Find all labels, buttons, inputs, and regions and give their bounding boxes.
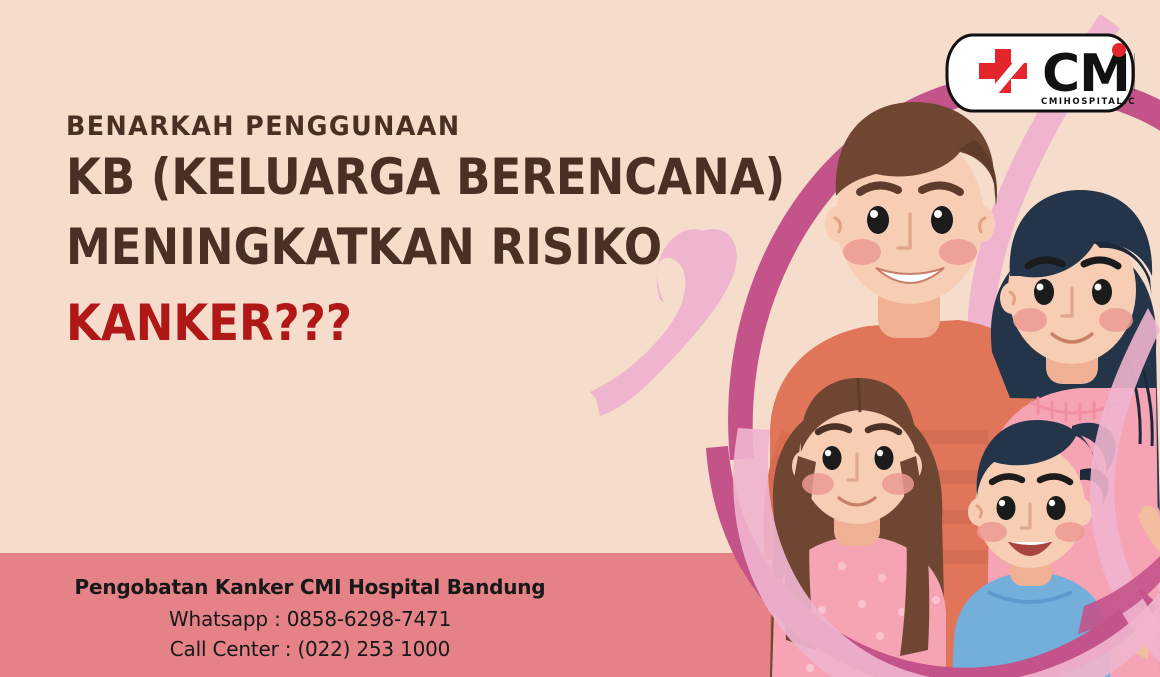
cmi-hospital-logo[interactable]: CMI CMIHOSPITAL.COM [945,33,1135,113]
headline-accent: KANKER??? [66,298,714,348]
footer-call-center[interactable]: Call Center : (022) 253 1000 [170,637,450,661]
promotional-banner: BENARKAH PENGGUNAAN KB (KELUARGA BERENCA… [0,0,1160,677]
headline-line-2: MENINGKATKAN RISIKO [66,222,714,272]
headline-kicker: BENARKAH PENGGUNAAN [66,112,743,142]
svg-text:CMIHOSPITAL.COM: CMIHOSPITAL.COM [1041,97,1135,107]
headline-line-1: KB (KELUARGA BERENCANA) [66,152,714,202]
footer-title: Pengobatan Kanker CMI Hospital Bandung [75,575,546,599]
footer-whatsapp[interactable]: Whatsapp : 0858-6298-7471 [169,607,451,631]
footer-contact-block: Pengobatan Kanker CMI Hospital Bandung W… [0,553,620,677]
logo-dot-icon [1112,43,1126,57]
headline-block: BENARKAH PENGGUNAAN KB (KELUARGA BERENCA… [66,112,786,348]
cmi-logo-icon: CMI CMIHOSPITAL.COM [945,33,1135,113]
